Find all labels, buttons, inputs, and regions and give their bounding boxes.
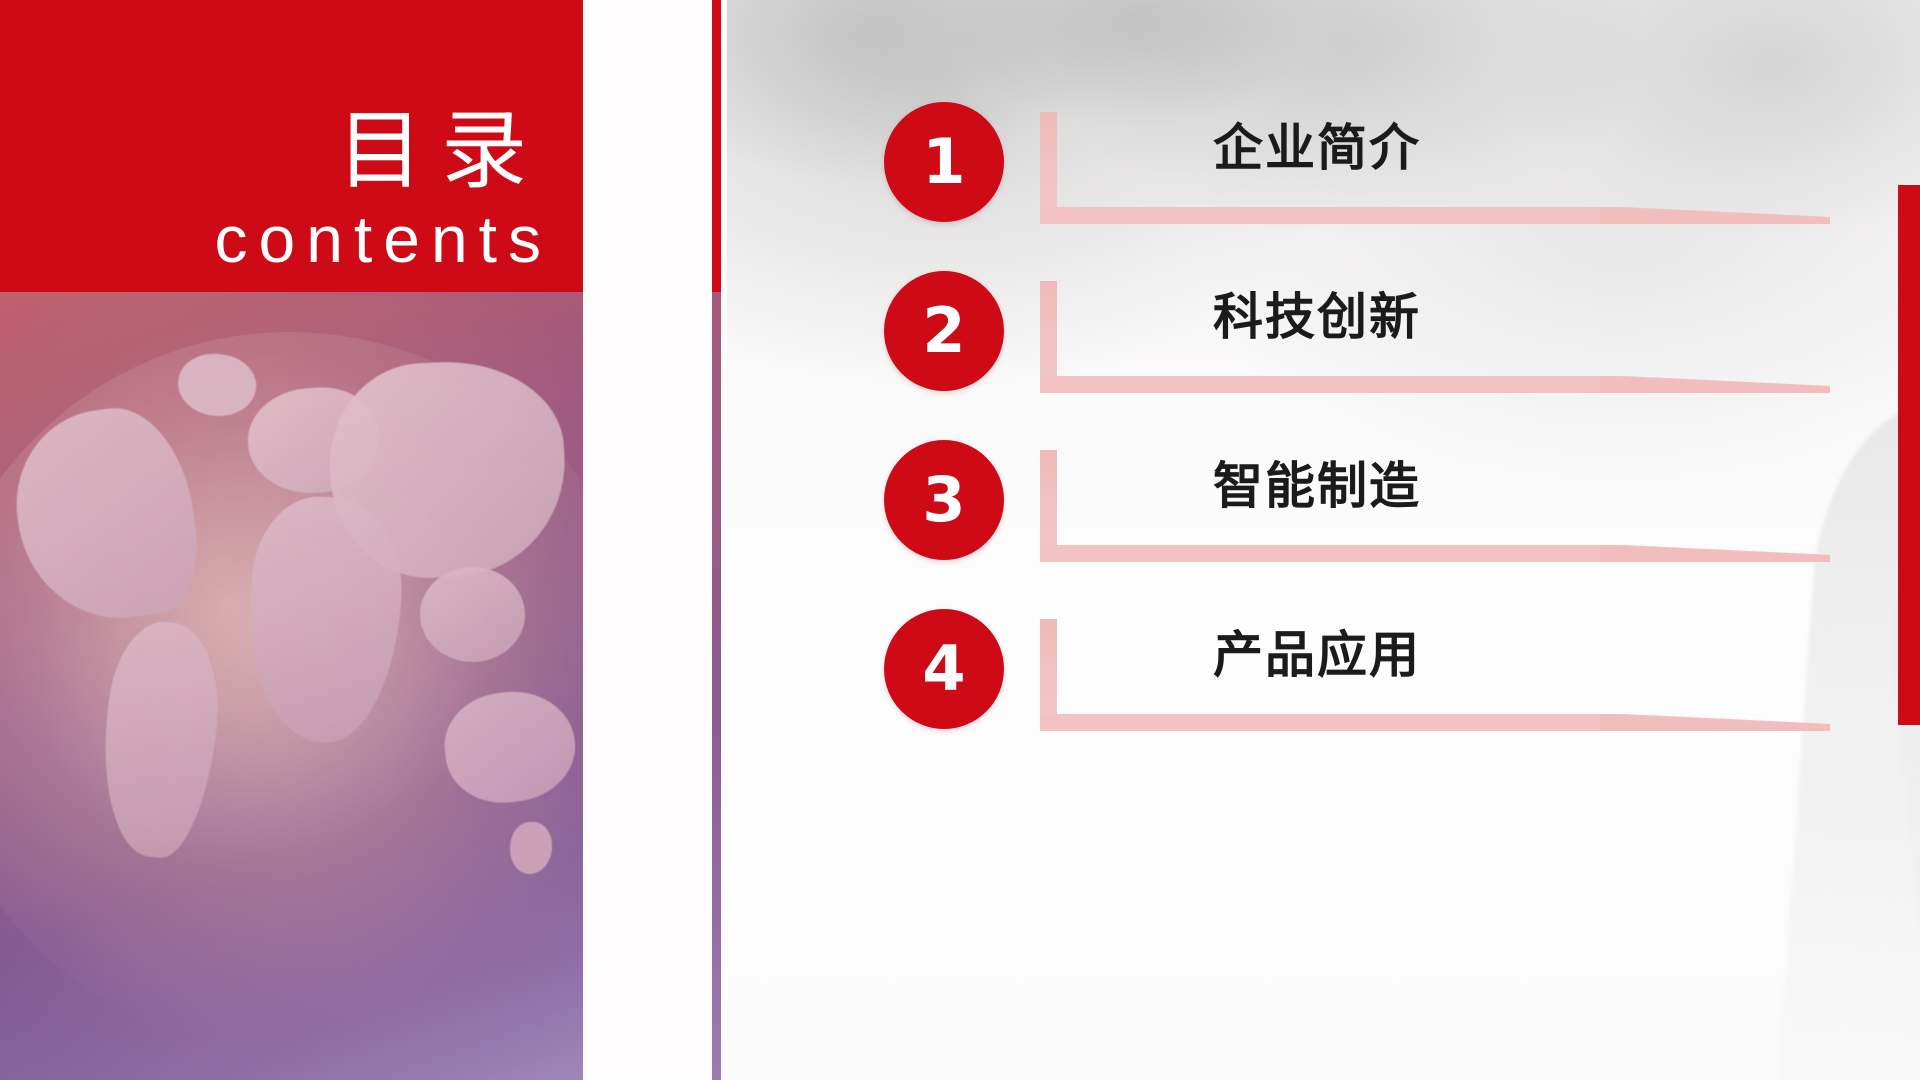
toc-number-badge: 3 — [884, 440, 1004, 560]
toc-item-1[interactable]: 1 企业简介 — [727, 94, 1920, 266]
page-title-cn: 目录 — [0, 108, 545, 194]
toc-item-4[interactable]: 4 产品应用 — [727, 601, 1920, 773]
divider-bar-red — [712, 0, 721, 292]
toc-item-label[interactable]: 企业简介 — [1213, 118, 1421, 178]
landmass-southeast-asia — [420, 567, 525, 662]
toc-number-badge: 1 — [884, 102, 1004, 222]
left-panel: 目录 contents — [0, 0, 583, 1080]
toc-bracket-icon — [1040, 112, 1830, 242]
toc-item-2[interactable]: 2 科技创新 — [727, 263, 1920, 435]
toc-number-badge: 2 — [884, 271, 1004, 391]
page-title-en: contents — [0, 206, 552, 272]
toc-item-label[interactable]: 科技创新 — [1213, 287, 1421, 347]
toc-number-badge: 4 — [884, 609, 1004, 729]
toc-bracket-icon — [1040, 281, 1830, 411]
divider-bar-purple — [712, 292, 721, 1080]
slide-canvas: 目录 contents 1 企业简介 2 科技创新 3 — [0, 0, 1920, 1080]
toc-bracket-icon — [1040, 450, 1830, 580]
globe-image — [0, 292, 583, 1080]
toc-item-label[interactable]: 产品应用 — [1213, 625, 1421, 685]
toc-item-label[interactable]: 智能制造 — [1213, 456, 1421, 516]
toc-bracket-icon — [1040, 619, 1830, 749]
toc-item-3[interactable]: 3 智能制造 — [727, 432, 1920, 604]
toc-list: 1 企业简介 2 科技创新 3 智能制造 — [727, 0, 1920, 1080]
